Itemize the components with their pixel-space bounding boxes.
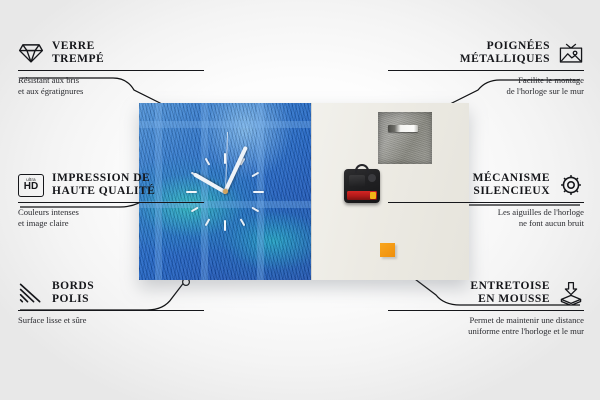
feature-mecanisme-silencieux: MÉCANISME SILENCIEUX Les aiguilles de l'… <box>388 172 584 229</box>
ultra-hd-icon-main-text: HD <box>24 182 38 192</box>
feature-desc-line2: ne font aucun bruit <box>388 218 584 229</box>
diamond-icon <box>18 41 44 65</box>
foam-spacer <box>380 243 395 257</box>
feature-divider <box>388 202 584 203</box>
feature-desc-line2: uniforme entre l'horloge et le mur <box>388 326 584 337</box>
feature-title-line1: MÉCANISME <box>473 172 550 185</box>
feature-title-line2: SILENCIEUX <box>473 185 550 198</box>
feature-bords-polis: BORDS POLIS Surface lisse et sûre <box>18 280 204 326</box>
feature-title-line2: EN MOUSSE <box>470 293 550 306</box>
feature-desc-line2: de l'horloge sur le mur <box>388 86 584 97</box>
feature-title-line1: BORDS <box>52 280 94 293</box>
mechanism-setting-dial <box>368 174 376 182</box>
hanger-keyhole-slot <box>388 125 418 132</box>
feature-verre-trempe: VERRE TREMPÉ Résistant aux bris et aux é… <box>18 40 204 97</box>
battery-positive-terminal <box>370 192 376 199</box>
feature-desc-line1: Couleurs intenses <box>18 207 204 218</box>
feature-desc-line1: Les aiguilles de l'horloge <box>388 207 584 218</box>
ultra-hd-icon: ultra HD <box>18 174 44 197</box>
feature-desc-line1: Surface lisse et sûre <box>18 315 204 326</box>
silent-clock-mechanism <box>344 169 380 203</box>
feature-title-line1: VERRE <box>52 40 104 53</box>
feature-divider <box>18 310 204 311</box>
infographic-canvas: VERRE TREMPÉ Résistant aux bris et aux é… <box>0 0 600 400</box>
feature-header: MÉCANISME SILENCIEUX <box>388 172 584 198</box>
clock-hand-cap <box>223 189 228 194</box>
feature-title-line2: MÉTALLIQUES <box>460 53 550 66</box>
feature-divider <box>388 70 584 71</box>
feature-poignees-metalliques: POIGNÉES MÉTALLIQUES Facilite le montage… <box>388 40 584 97</box>
feature-desc-line1: Permet de maintenir une distance <box>388 315 584 326</box>
feature-title-line2: TREMPÉ <box>52 53 104 66</box>
feature-title-line1: IMPRESSION DE <box>52 172 155 185</box>
feature-desc-line1: Résistant aux bris <box>18 75 204 86</box>
feature-desc-line2: et image claire <box>18 218 204 229</box>
polished-edge-icon <box>18 281 44 305</box>
metal-hanger-plate <box>378 112 432 164</box>
foam-spacer-arrow-icon <box>558 281 584 305</box>
feature-header: POIGNÉES MÉTALLIQUES <box>388 40 584 66</box>
picture-frame-hanger-icon <box>558 41 584 65</box>
feature-title-line2: POLIS <box>52 293 94 306</box>
mechanism-hanging-loop <box>355 164 369 173</box>
feature-title-line1: ENTRETOISE <box>470 280 550 293</box>
feature-divider <box>18 70 204 71</box>
feature-title-line1: POIGNÉES <box>460 40 550 53</box>
art-band <box>139 121 311 128</box>
gear-icon <box>558 173 584 197</box>
feature-impression-haute-qualite: ultra HD IMPRESSION DE HAUTE QUALITÉ Cou… <box>18 172 204 229</box>
feature-header: ENTRETOISE EN MOUSSE <box>388 280 584 306</box>
feature-header: ultra HD IMPRESSION DE HAUTE QUALITÉ <box>18 172 204 198</box>
feature-entretoise-en-mousse: ENTRETOISE EN MOUSSE Permet de maintenir… <box>388 280 584 337</box>
feature-header: VERRE TREMPÉ <box>18 40 204 66</box>
feature-desc-line2: et aux égratignures <box>18 86 204 97</box>
feature-header: BORDS POLIS <box>18 280 204 306</box>
feature-divider <box>388 310 584 311</box>
feature-title-line2: HAUTE QUALITÉ <box>52 185 155 198</box>
feature-desc-line1: Facilite le montage <box>388 75 584 86</box>
mechanism-panel <box>349 175 365 187</box>
feature-divider <box>18 202 204 203</box>
aa-battery <box>347 191 377 200</box>
